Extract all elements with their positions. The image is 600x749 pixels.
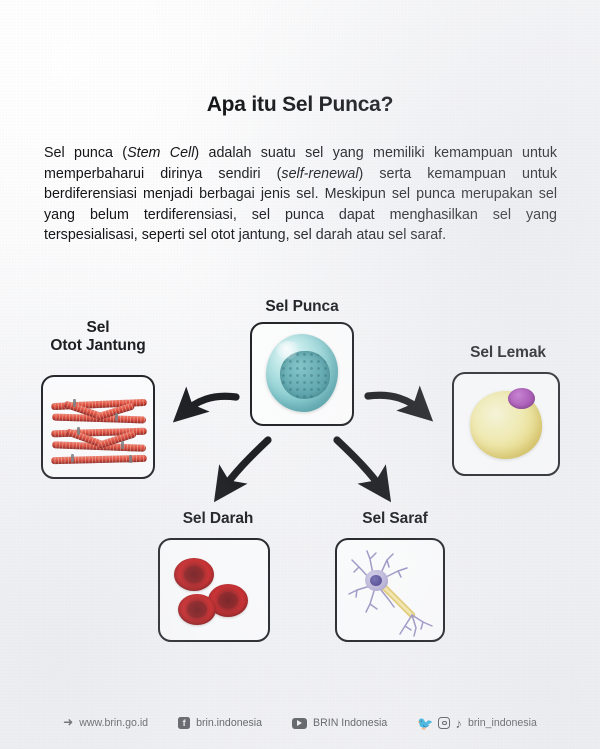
footer-item-social[interactable]: 🐦 ♪ brin_indonesia	[417, 717, 537, 730]
cardiac-muscle-cell-icon	[43, 377, 153, 477]
label-sel-lemak: Sel Lemak	[437, 344, 579, 362]
cell-box-sel-saraf[interactable]	[335, 538, 445, 642]
footer-item-website[interactable]: ➜ www.brin.go.id	[63, 717, 148, 729]
footer-social-text: brin_indonesia	[468, 717, 537, 729]
facebook-icon: f	[178, 717, 190, 729]
label-sel-darah: Sel Darah	[145, 510, 291, 528]
youtube-icon	[292, 718, 307, 729]
label-sel-otot-jantung: Sel Otot Jantung	[21, 319, 175, 355]
fat-cell-icon	[454, 374, 558, 474]
stem-cell-differentiation-diagram: Sel Punca Sel Otot Jantung	[0, 0, 600, 749]
label-sel-punca: Sel Punca	[232, 298, 372, 316]
footer-youtube-text: BRIN Indonesia	[313, 717, 387, 729]
footer-website-text: www.brin.go.id	[79, 717, 148, 729]
footer-item-youtube[interactable]: BRIN Indonesia	[292, 717, 387, 729]
arrow-to-lemak	[368, 395, 424, 413]
arrow-to-darah	[221, 440, 268, 492]
twitter-icon: 🐦	[417, 717, 433, 730]
tiktok-icon: ♪	[455, 717, 462, 730]
arrow-to-saraf	[337, 440, 384, 492]
arrow-to-otot-jantung	[182, 396, 236, 414]
social-icon-group: 🐦 ♪	[417, 717, 462, 730]
stem-cell-icon	[252, 324, 352, 424]
footer-facebook-text: brin.indonesia	[196, 717, 262, 729]
footer-social-bar: ➜ www.brin.go.id f brin.indonesia BRIN I…	[0, 711, 600, 735]
footer-item-facebook[interactable]: f brin.indonesia	[178, 717, 262, 729]
cell-box-sel-darah[interactable]	[158, 538, 270, 642]
cell-box-sel-punca[interactable]	[250, 322, 354, 426]
cursor-click-icon: ➜	[63, 716, 73, 728]
cell-box-sel-lemak[interactable]	[452, 372, 560, 476]
cell-box-sel-otot-jantung[interactable]	[41, 375, 155, 479]
red-blood-cell-icon	[160, 540, 268, 640]
instagram-icon	[438, 717, 450, 729]
nerve-cell-icon	[337, 540, 443, 640]
label-sel-saraf: Sel Saraf	[322, 510, 468, 528]
infographic-poster: Apa itu Sel Punca? Sel punca (Stem Cell)…	[0, 0, 600, 749]
